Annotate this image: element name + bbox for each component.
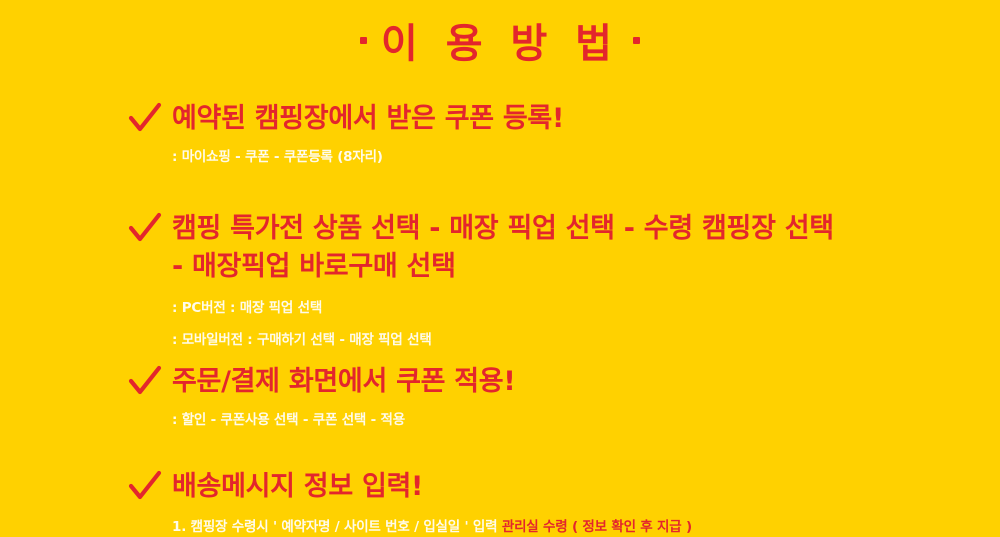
step-subtext-group: 1. 캠핑장 수령시 ' 예약자명 / 사이트 번호 / 입실일 ' 입력 관리… [128, 517, 988, 537]
step-item: 예약된 캠핑장에서 받은 쿠폰 등록! : 마이쇼핑 - 쿠폰 - 쿠폰등록 (… [128, 100, 988, 168]
check-icon [128, 212, 162, 246]
page-title: 이 용 방 법 [0, 24, 1000, 64]
check-icon [128, 470, 162, 504]
step-item: 배송메시지 정보 입력! 1. 캠핑장 수령시 ' 예약자명 / 사이트 번호 … [128, 468, 988, 537]
step-heading-line: 예약된 캠핑장에서 받은 쿠폰 등록! [172, 100, 988, 138]
step-heading-line: 캠핑 특가전 상품 선택 - 매장 픽업 선택 - 수령 캠핑장 선택 [172, 210, 988, 248]
step-subtext-plain: 1. 캠핑장 수령시 ' 예약자명 / 사이트 번호 / 입실일 ' 입력 [172, 519, 502, 535]
page-title-text: 이 용 방 법 [381, 24, 619, 64]
step-heading-group: 배송메시지 정보 입력! [128, 468, 988, 506]
step-subtext-accent: 관리실 수령 ( 정보 확인 후 지급 ) [502, 519, 692, 535]
step-subtext-line: 1. 캠핑장 수령시 ' 예약자명 / 사이트 번호 / 입실일 ' 입력 관리… [172, 517, 988, 537]
promo-page: 이 용 방 법 예약된 캠핑장에서 받은 쿠폰 등록! : 마이쇼핑 - 쿠폰 … [0, 0, 1000, 500]
step-heading-group: 캠핑 특가전 상품 선택 - 매장 픽업 선택 - 수령 캠핑장 선택 - 매장… [128, 210, 988, 287]
title-right-dot-icon [633, 37, 640, 44]
check-icon [128, 365, 162, 399]
step-heading-line: - 매장픽업 바로구매 선택 [172, 248, 988, 286]
step-subtext-line: : 할인 - 쿠폰사용 선택 - 쿠폰 선택 - 적용 [172, 410, 988, 430]
step-heading-group: 예약된 캠핑장에서 받은 쿠폰 등록! [128, 100, 988, 138]
title-left-dot-icon [360, 37, 367, 44]
step-item: 캠핑 특가전 상품 선택 - 매장 픽업 선택 - 수령 캠핑장 선택 - 매장… [128, 210, 988, 351]
step-subtext-group: : 마이쇼핑 - 쿠폰 - 쿠폰등록 (8자리) [128, 147, 988, 167]
check-icon [128, 102, 162, 136]
step-heading-line: 배송메시지 정보 입력! [172, 468, 988, 506]
step-subtext-line: : 마이쇼핑 - 쿠폰 - 쿠폰등록 (8자리) [172, 147, 988, 167]
step-item: 주문/결제 화면에서 쿠폰 적용! : 할인 - 쿠폰사용 선택 - 쿠폰 선택… [128, 363, 988, 431]
step-heading-group: 주문/결제 화면에서 쿠폰 적용! [128, 363, 988, 401]
steps-list: 예약된 캠핑장에서 받은 쿠폰 등록! : 마이쇼핑 - 쿠폰 - 쿠폰등록 (… [128, 100, 988, 537]
step-subtext-line: : PC버전 : 매장 픽업 선택 [172, 298, 988, 318]
step-heading-line: 주문/결제 화면에서 쿠폰 적용! [172, 363, 988, 401]
step-subtext-line: : 모바일버전 : 구매하기 선택 - 매장 픽업 선택 [172, 330, 988, 350]
step-subtext-group: : 할인 - 쿠폰사용 선택 - 쿠폰 선택 - 적용 [128, 410, 988, 430]
step-subtext-group: : PC버전 : 매장 픽업 선택 : 모바일버전 : 구매하기 선택 - 매장… [128, 298, 988, 351]
